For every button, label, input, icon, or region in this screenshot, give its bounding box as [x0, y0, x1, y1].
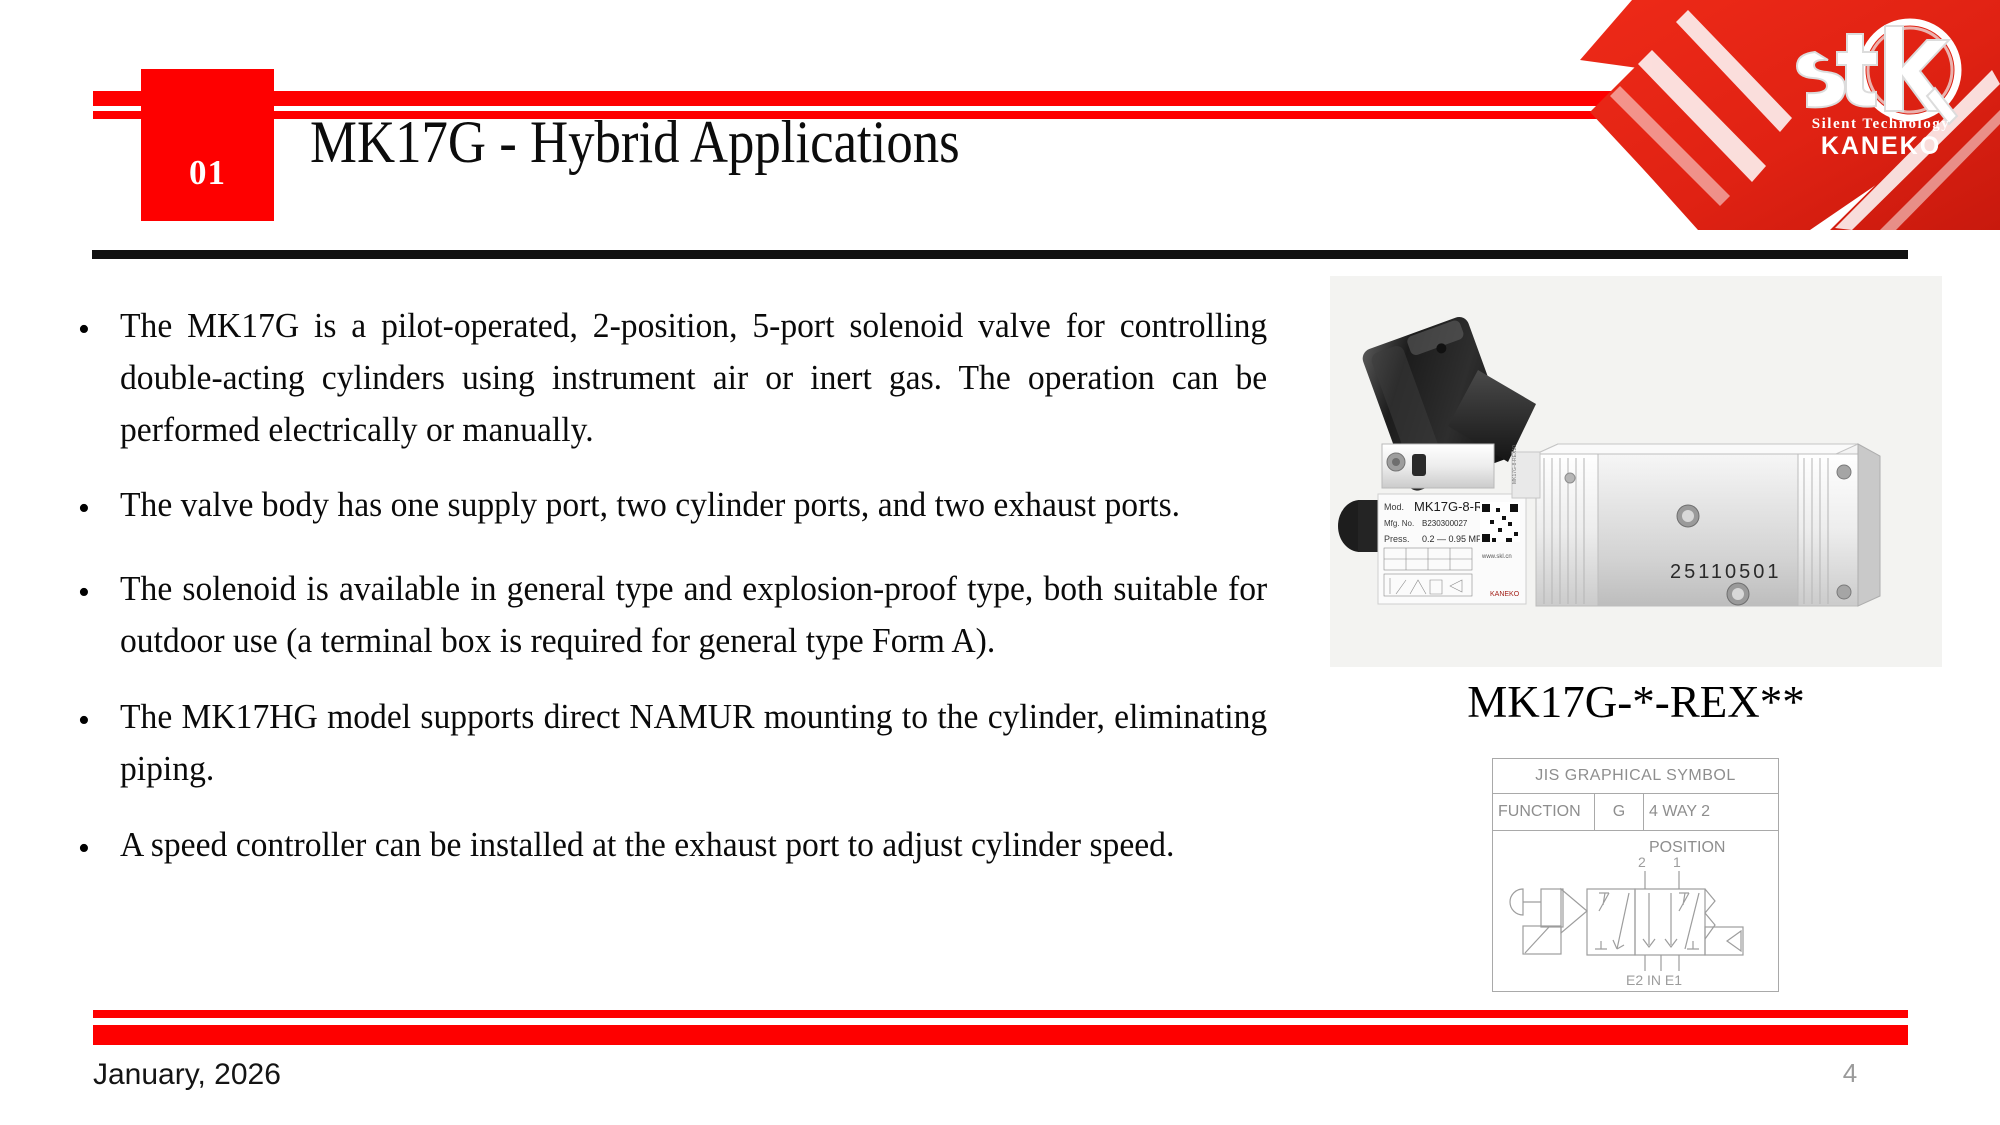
bullet-text: A speed controller can be installed at t…: [120, 819, 1267, 871]
jis-port-1: 1: [1673, 854, 1681, 870]
jis-ports-bottom: E2 IN E1: [1626, 972, 1682, 988]
section-number-label: 01: [141, 153, 274, 193]
product-caption: MK17G-*-REX**: [1330, 676, 1942, 728]
product-photo: Mod. MK17G-8-REX10 Mfg. No. B230300027 P…: [1330, 276, 1942, 667]
footer-red-bar-thin: [93, 1010, 1908, 1018]
bullet-list: • The MK17G is a pilot-operated, 2-posit…: [70, 300, 1315, 903]
nameplate-press-label: Press.: [1384, 534, 1410, 544]
logo-tagline: Silent Technology: [1785, 116, 1977, 133]
header-divider-rule: [92, 250, 1908, 259]
header-red-bar-thick: [93, 91, 1777, 106]
bullet-glyph: •: [70, 691, 120, 751]
jis-port-2: 2: [1638, 854, 1646, 870]
jis-function-label: FUNCTION: [1493, 794, 1595, 830]
bullet-text: The MK17HG model supports direct NAMUR m…: [120, 691, 1267, 795]
page-number: 4: [1820, 1058, 1880, 1089]
bullet-glyph: •: [70, 300, 120, 360]
section-number-badge: 01: [141, 69, 274, 221]
valve-schematic-icon: 2 1 E2 IN E1: [1493, 831, 1776, 989]
solenoid-valve-illustration: Mod. MK17G-8-REX10 Mfg. No. B230300027 P…: [1330, 276, 1942, 667]
nameplate-mfg-label: Mfg. No.: [1384, 519, 1414, 528]
page-title: MK17G - Hybrid Applications: [310, 108, 960, 177]
bullet-text: The MK17G is a pilot-operated, 2-positio…: [120, 300, 1267, 455]
brand-logo: Silent Technology KANEKO: [1580, 0, 2000, 230]
footer-date: January, 2026: [93, 1058, 281, 1092]
nameplate-mfg-value: B230300027: [1422, 519, 1468, 528]
bullet-text: The solenoid is available in general typ…: [120, 563, 1267, 667]
list-item: • The solenoid is available in general t…: [70, 563, 1315, 667]
jis-symbol-table: JIS GRAPHICAL SYMBOL FUNCTION G 4 WAY 2 …: [1492, 758, 1779, 992]
bullet-glyph: •: [70, 563, 120, 623]
list-item: • The MK17G is a pilot-operated, 2-posit…: [70, 300, 1315, 455]
nameplate-press-value: 0.2 — 0.95 MPa: [1422, 534, 1487, 544]
bullet-glyph: •: [70, 819, 120, 879]
nameplate-brand: KANEKO: [1490, 591, 1520, 598]
jis-function-code: G: [1595, 794, 1644, 830]
logo-brand-name: KANEKO: [1785, 132, 1977, 161]
list-item: • The valve body has one supply port, tw…: [70, 479, 1315, 539]
bullet-glyph: •: [70, 479, 120, 539]
list-item: • The MK17HG model supports direct NAMUR…: [70, 691, 1315, 795]
footer-red-bar-thick: [93, 1025, 1908, 1045]
bullet-text: The valve body has one supply port, two …: [120, 479, 1267, 531]
slide: 01 MK17G - Hybrid Applications: [0, 0, 2000, 1125]
svg-text:www.skl.cn: www.skl.cn: [1481, 554, 1512, 560]
jis-function-value: 4 WAY 2 POSITION: [1644, 794, 1778, 830]
jis-title: JIS GRAPHICAL SYMBOL: [1493, 759, 1778, 794]
list-item: • A speed controller can be installed at…: [70, 819, 1315, 879]
svg-text:MK17G-8-REX10: MK17G-8-REX10: [1512, 445, 1518, 484]
jis-function-row: FUNCTION G 4 WAY 2 POSITION: [1493, 794, 1778, 831]
qr-code: [1480, 502, 1520, 542]
jis-schematic: 2 1 E2 IN E1: [1493, 831, 1778, 991]
valve-body-serial: 25110501: [1670, 561, 1782, 583]
nameplate-model-label: Mod.: [1384, 502, 1404, 512]
